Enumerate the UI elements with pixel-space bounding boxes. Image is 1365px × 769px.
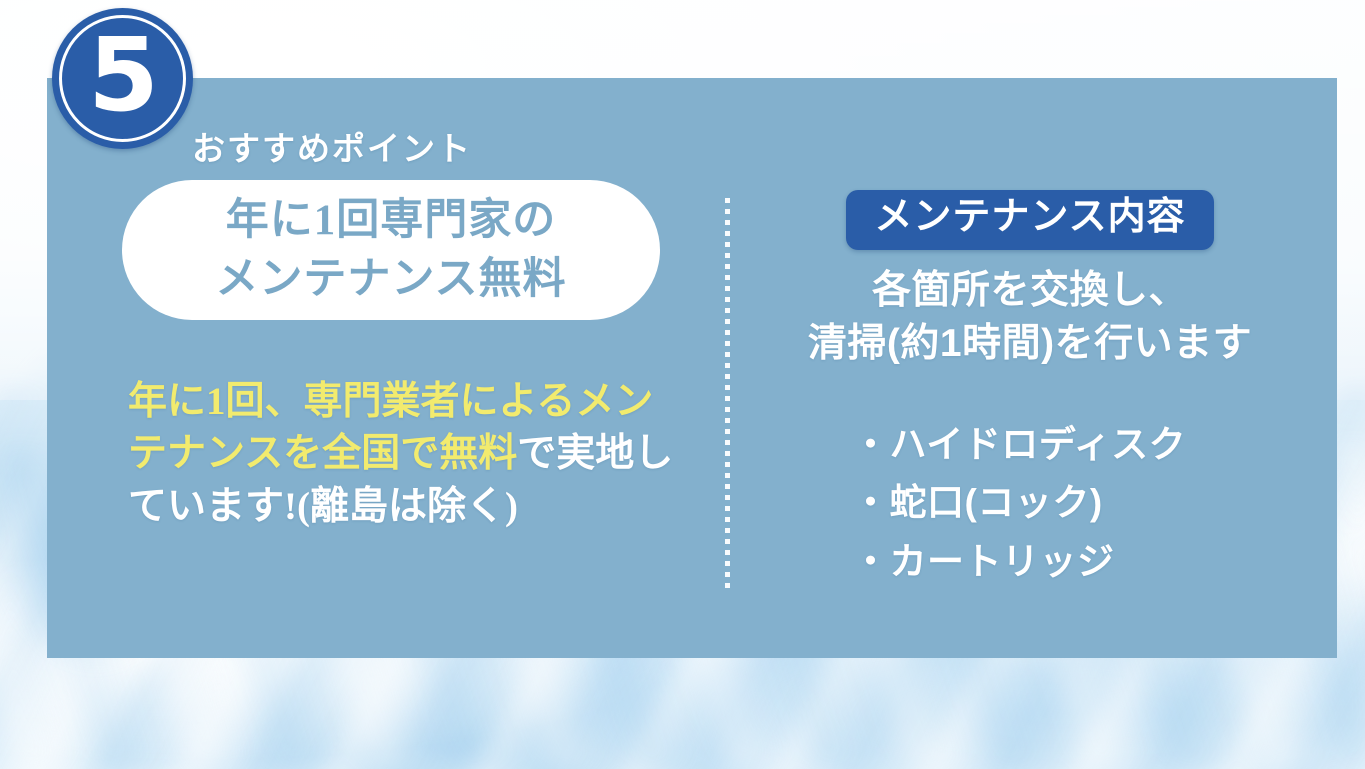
eyebrow-label: おすすめポイント [192,122,682,170]
maintenance-tag-badge: メンテナンス内容 [846,190,1213,250]
left-column: おすすめポイント 年に1回専門家の メンテナンス無料 年に1回、専門業者によるメ… [122,122,682,533]
headline-line-2: メンテナンス無料 [215,250,566,309]
maintenance-items-list: ・ハイドロディスク ・蛇口(コック) ・カートリッジ [760,416,1300,591]
list-item: ・蛇口(コック) [852,474,1300,532]
right-tag-wrap: メンテナンス内容 [760,190,1300,250]
list-item: ・カートリッジ [852,533,1300,591]
list-item: ・ハイドロディスク [852,416,1300,474]
headline-pill: 年に1回専門家の メンテナンス無料 [122,180,660,320]
dotted-divider [725,198,730,592]
headline-line-1: 年に1回専門家の [226,191,557,250]
slide-root: 5 おすすめポイント 年に1回専門家の メンテナンス無料 年に1回、専門業者によ… [0,0,1365,769]
right-description-line-2: 清掃(約1時間)を行います [760,317,1300,370]
left-body-copy: 年に1回、専門業者によるメンテナンスを全国で無料で実地しています!(離島は除く) [128,376,680,533]
right-description-line-1: 各箇所を交換し、 [760,264,1300,317]
right-column: メンテナンス内容 各箇所を交換し、 清掃(約1時間)を行います ・ハイドロディス… [760,190,1300,591]
right-description: 各箇所を交換し、 清掃(約1時間)を行います [760,264,1300,370]
